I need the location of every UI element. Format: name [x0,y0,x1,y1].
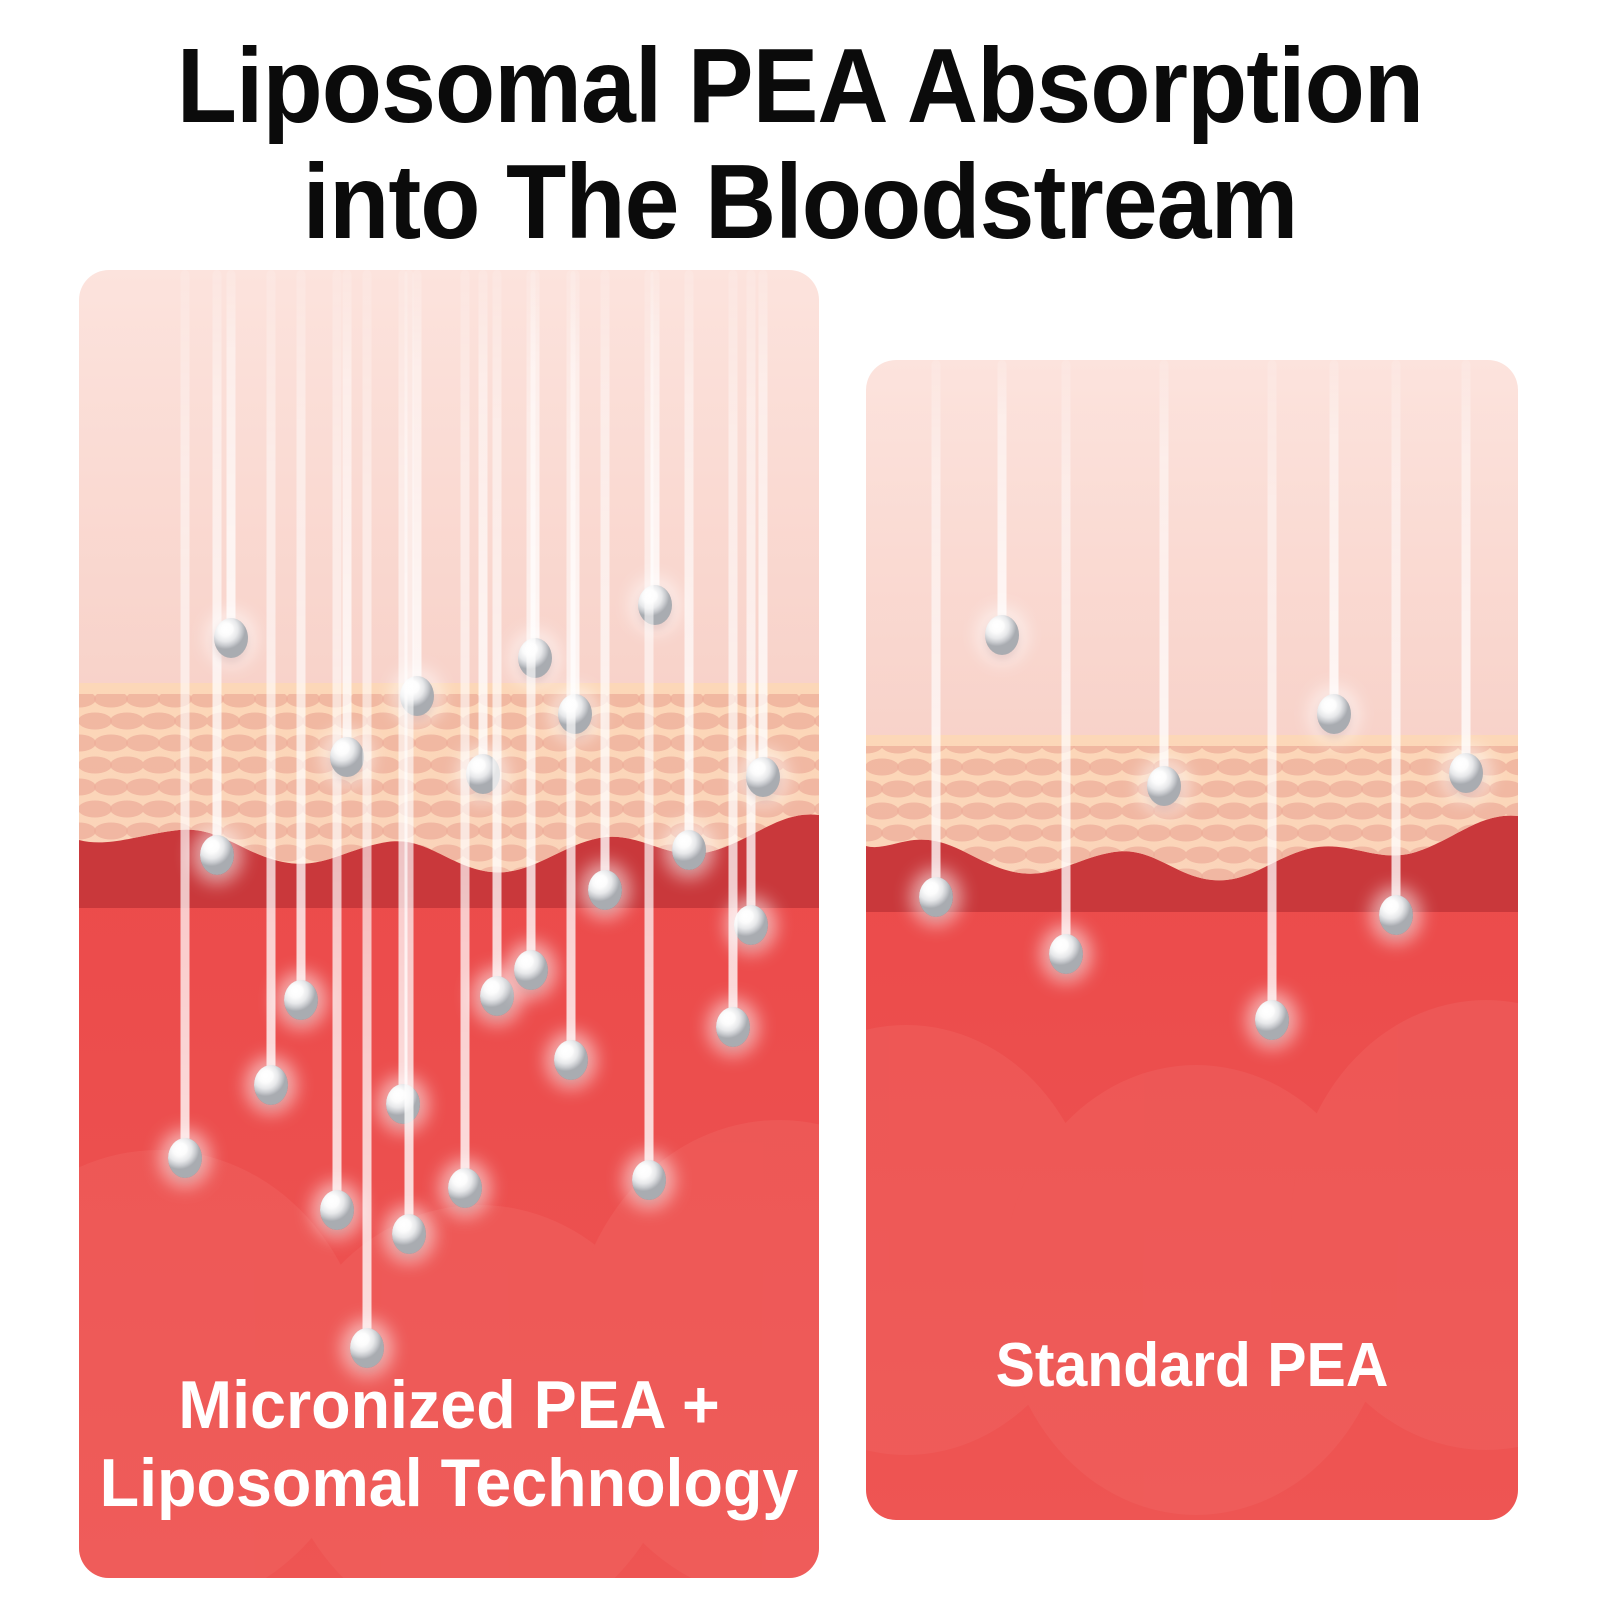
pea-particle [448,1168,482,1208]
pea-particle [386,1084,420,1124]
panel-micronized-liposomal-pea: Micronized PEA + Liposomal Technology [79,270,819,1578]
pea-particle [200,835,234,875]
layer-skin-surface-left [79,270,819,690]
pea-particle [1379,895,1413,935]
pea-particle [1317,694,1351,734]
pea-particle [1449,753,1483,793]
skin-cross-section-left [79,270,819,1578]
pea-particle [350,1328,384,1368]
pea-particle [985,615,1019,655]
pea-particle [214,618,248,658]
infographic-canvas: Liposomal PEA Absorption into The Bloods… [0,0,1600,1600]
pea-particle [320,1190,354,1230]
pea-particle [632,1160,666,1200]
pea-particle [518,638,552,678]
pea-particle [284,980,318,1020]
pea-particle [734,905,768,945]
pea-particle [554,1040,588,1080]
pea-particle [558,694,592,734]
pea-particle [1147,766,1181,806]
pea-particle [466,754,500,794]
title-line-2: into The Bloodstream [56,144,1544,260]
pea-particle [1255,1000,1289,1040]
pea-particle [672,830,706,870]
pea-particle [638,585,672,625]
pea-particle [1049,934,1083,974]
pea-particle [514,950,548,990]
pea-particle [746,757,780,797]
layer-skin-surface-right [866,360,1518,742]
pea-particle [254,1065,288,1105]
panel-standard-pea: Standard PEA [866,360,1518,1520]
pea-particle [480,976,514,1016]
pea-particle [919,877,953,917]
pea-particle [168,1138,202,1178]
pea-particle [400,676,434,716]
pea-particle [588,870,622,910]
title-line-1: Liposomal PEA Absorption [56,28,1544,144]
pea-particle [330,737,364,777]
skin-cross-section-right [866,360,1518,1520]
pea-particle [392,1214,426,1254]
page-title: Liposomal PEA Absorption into The Bloods… [0,28,1600,260]
pea-particle [716,1007,750,1047]
